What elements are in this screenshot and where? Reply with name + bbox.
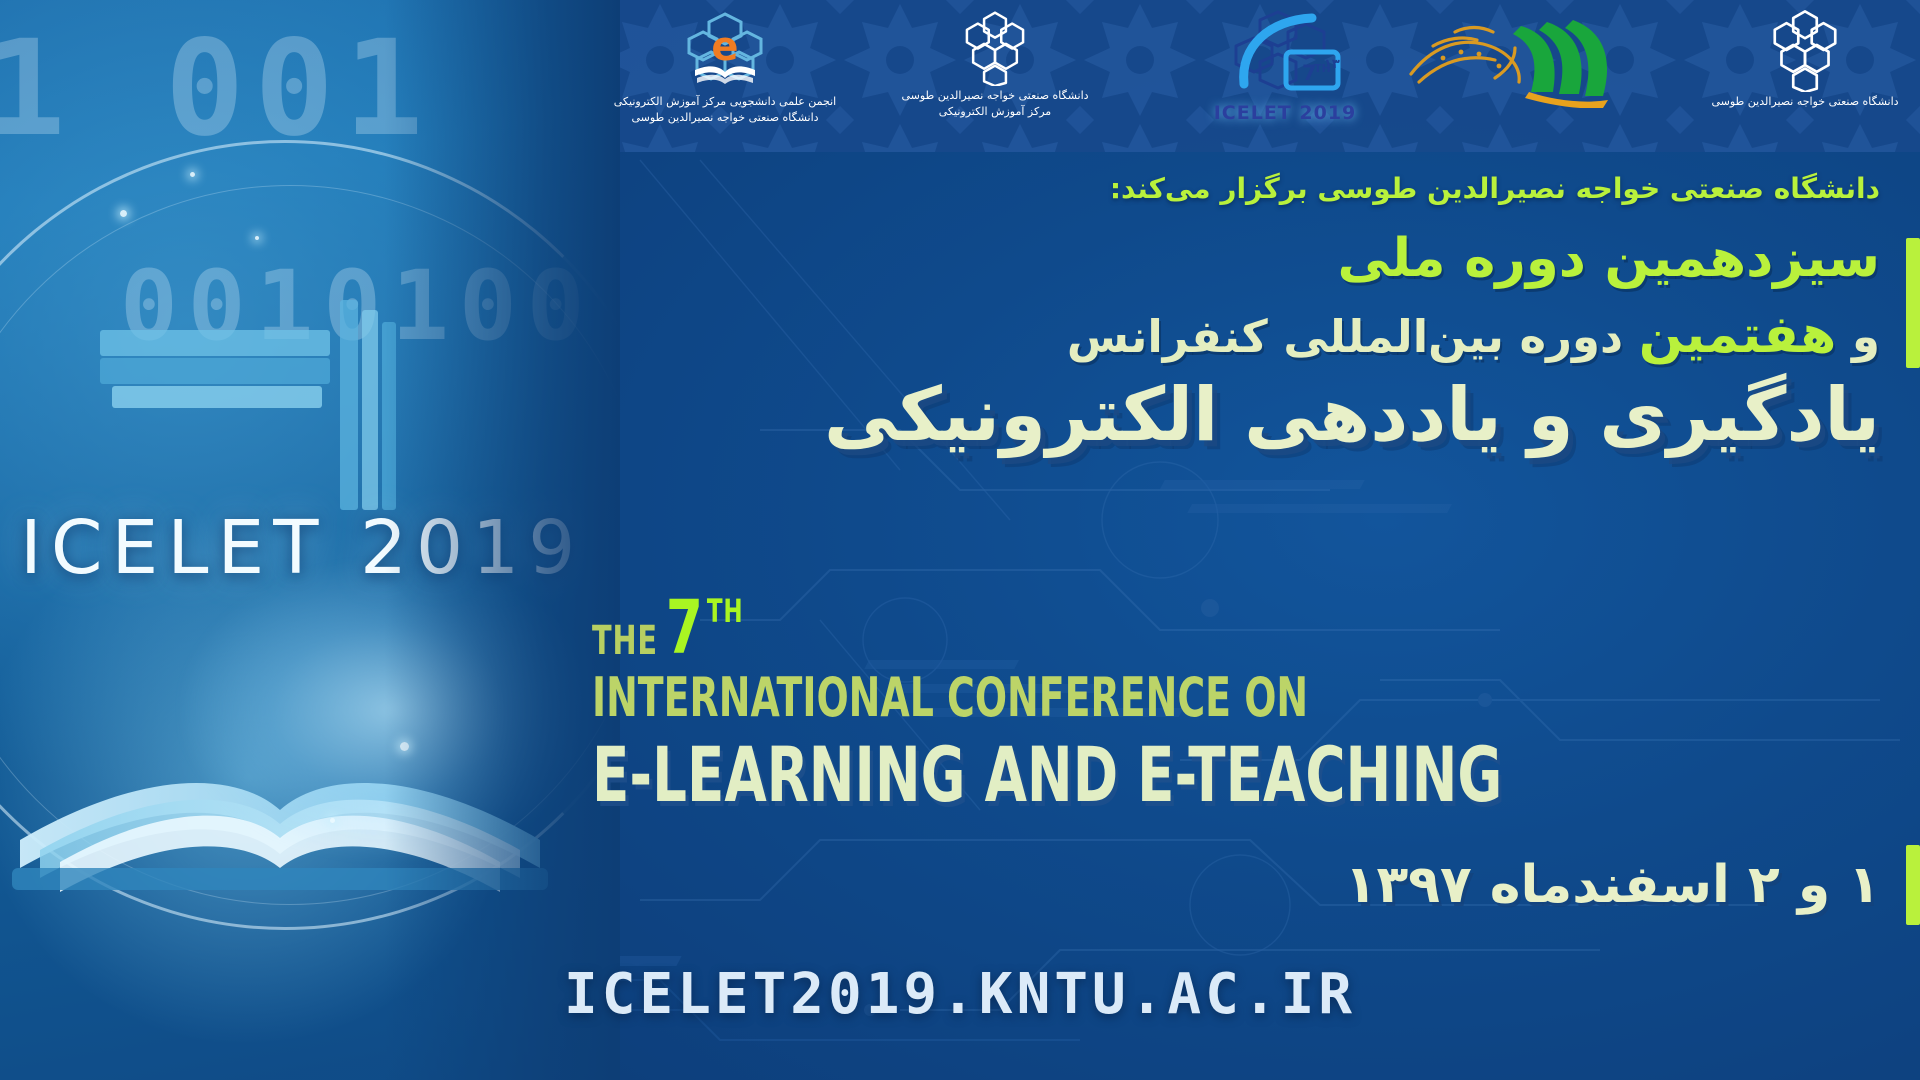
green-arcs-calligraphy-logo-icon	[1403, 8, 1618, 108]
host-line: دانشگاه صنعتی خواجه نصیرالدین طوسی برگزا…	[1110, 172, 1880, 205]
open-book-illustration	[0, 600, 560, 930]
english-title-block: THE 7 TH INTERNATIONAL CONFERENCE ON E-L…	[592, 596, 1730, 813]
sparkle-dot	[120, 210, 127, 217]
logo-kntu-e-learning-center: دانشگاه صنعتی خواجه نصیرالدین طوسی مرکز …	[905, 8, 1085, 120]
edition-international: و هفتمین دوره بین‌المللی کنفرانس	[1067, 305, 1880, 365]
left-photo-panel: 1 001 0010100	[0, 0, 620, 1080]
logo-iranian-e-learning-association	[1395, 8, 1625, 108]
english-the-label: THE	[592, 621, 658, 661]
logo-icelet-2019-conference: 7 TH ۱۳ ICELET 2019	[1190, 8, 1380, 124]
svg-text:e: e	[711, 24, 738, 70]
kntu-cube-logo-icon	[956, 8, 1034, 86]
accent-bar-date	[1906, 845, 1920, 925]
conference-banner: 1 001 0010100	[0, 0, 1920, 1080]
logo-caption: دانشگاه صنعتی خواجه نصیرالدین طوسی	[1711, 94, 1898, 110]
english-conference-line: INTERNATIONAL CONFERENCE ON	[592, 671, 1479, 725]
logo-caption: انجمن علمی دانشجویی مرکز آموزش الکترونیک…	[614, 94, 836, 126]
icelet-wordmark: ICELET 2019	[20, 505, 584, 591]
logo-e-learning-center-student-association: e انجمن علمی دانشجویی مرکز آموزش الکترون…	[560, 8, 890, 126]
conference-date-persian: ۱ و ۲ اسفندماه ۱۳۹۷	[1345, 855, 1880, 915]
sponsor-logo-row: e انجمن علمی دانشجویی مرکز آموزش الکترون…	[0, 0, 1920, 152]
kntu-cube-logo-icon	[1762, 8, 1848, 92]
svg-text:۱۳: ۱۳	[1324, 57, 1340, 72]
edition-intl-suffix: دوره بین‌المللی کنفرانس	[1067, 310, 1639, 363]
decorative-arc-ring	[0, 140, 620, 930]
logo-kntu-university: دانشگاه صنعتی خواجه نصیرالدین طوسی	[1700, 8, 1910, 110]
english-ordinal-suffix: TH	[707, 595, 744, 627]
light-glow	[180, 560, 600, 860]
sparkle-dot	[330, 818, 335, 823]
icelet-cube-tablet-logo-icon: 7 TH ۱۳	[1220, 8, 1350, 106]
accent-bar-top	[1906, 238, 1920, 368]
edition-intl-highlight: هفتمین	[1639, 305, 1837, 365]
edition-national: سیزدهمین دوره ملی	[1338, 228, 1880, 289]
binary-digits-mid: 0010100	[120, 250, 595, 362]
english-ordinal-number: 7	[666, 596, 704, 661]
sparkle-dot	[400, 742, 409, 751]
english-ordinal-line: THE 7 TH	[592, 596, 1502, 661]
english-topic-line: E-LEARNING AND E-TEACHING	[592, 737, 1502, 813]
edition-intl-prefix: و	[1836, 310, 1880, 363]
hexagon-e-book-logo-icon: e	[681, 8, 769, 92]
sparkle-dot	[190, 172, 195, 177]
sparkle-dot	[255, 236, 259, 240]
decorative-arc-ring-inner	[0, 185, 620, 905]
conference-title-persian: یادگیری و یاددهی الکترونیکی	[824, 372, 1880, 458]
icelet-logo-wordmark: ICELET 2019	[1214, 102, 1357, 124]
books-illustration	[90, 300, 420, 550]
logo-caption: دانشگاه صنعتی خواجه نصیرالدین طوسی مرکز …	[901, 88, 1088, 120]
conference-website-url[interactable]: ICELET2019.KNTU.AC.IR	[564, 962, 1356, 1027]
